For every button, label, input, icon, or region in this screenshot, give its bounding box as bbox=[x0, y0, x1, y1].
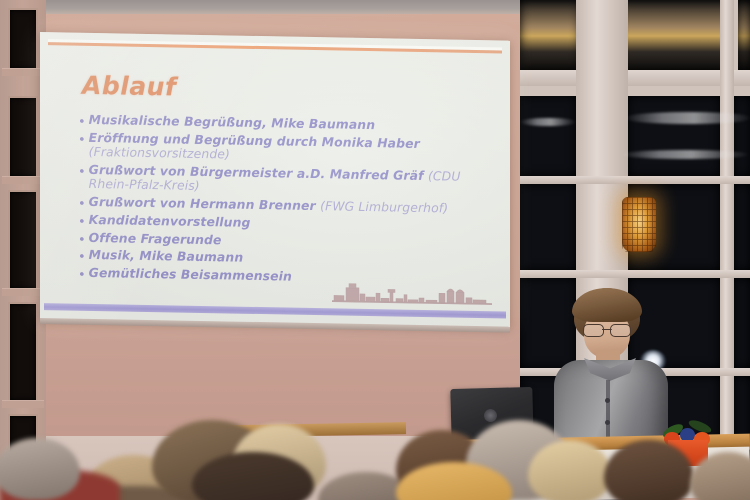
left-window-mullion bbox=[2, 68, 44, 76]
left-window-mullion bbox=[2, 288, 44, 296]
list-item: • Eröffnung und Begrüßung durch Monika H… bbox=[78, 130, 498, 166]
bullet-marker-icon: • bbox=[78, 116, 86, 129]
town-skyline-icon bbox=[332, 277, 492, 306]
transom-pane bbox=[618, 0, 734, 72]
left-window-pane bbox=[8, 8, 38, 70]
projection-screen: Ablauf • Musikalische Begrüßung, Mike Ba… bbox=[40, 32, 510, 329]
bullet-note: (FWG Limburgerhof) bbox=[320, 198, 448, 215]
bullet-marker-icon: • bbox=[78, 133, 86, 146]
window-pane bbox=[520, 96, 576, 176]
speaker-glasses-icon bbox=[583, 324, 631, 335]
left-window-pane bbox=[8, 190, 38, 290]
left-window-mullion bbox=[2, 176, 44, 184]
bullet-text: Gemütliches Beisammensein bbox=[89, 265, 292, 284]
bullet-marker-icon: • bbox=[78, 216, 86, 229]
bullet-marker-icon: • bbox=[78, 166, 86, 179]
bullet-text: Musik, Mike Baumann bbox=[89, 247, 244, 265]
left-window-pane bbox=[8, 96, 38, 178]
bullet-text: Grußwort von Hermann Brenner bbox=[89, 194, 316, 213]
golden-mosaic-lamp-icon bbox=[622, 197, 656, 252]
bullet-marker-icon: • bbox=[78, 233, 86, 246]
speaker-fringe bbox=[572, 288, 642, 322]
bullet-text: Kandidatenvorstellung bbox=[89, 212, 251, 230]
window-frame-rail bbox=[520, 70, 750, 86]
window-pane bbox=[734, 184, 750, 270]
slide-title: Ablauf bbox=[82, 71, 176, 102]
bullet-marker-icon: • bbox=[78, 198, 86, 211]
bullet-note: (Fraktionsvorsitzende) bbox=[89, 144, 230, 162]
photo-scene: Ablauf • Musikalische Begrüßung, Mike Ba… bbox=[0, 0, 750, 500]
glass-reflection bbox=[624, 112, 750, 124]
slide-footer-bar bbox=[44, 303, 506, 318]
list-item: • Grußwort von Bürgermeister a.D. Manfre… bbox=[78, 163, 498, 199]
bullet-text: Musikalische Begrüßung, Mike Baumann bbox=[89, 112, 375, 132]
slide-bullet-list: • Musikalische Begrüßung, Mike Baumann •… bbox=[78, 113, 498, 292]
glass-reflection bbox=[520, 118, 576, 126]
laptop-logo-icon bbox=[484, 409, 497, 422]
bullet-marker-icon: • bbox=[78, 269, 86, 282]
transom-pane bbox=[520, 0, 580, 72]
bullet-text: Offene Fragerunde bbox=[89, 230, 222, 247]
window-pane bbox=[734, 278, 750, 368]
glass-reflection bbox=[620, 150, 750, 159]
lamp-texture bbox=[622, 197, 656, 252]
window-pane bbox=[520, 184, 576, 270]
left-window-mullion bbox=[2, 400, 44, 408]
left-window-pane bbox=[8, 302, 38, 402]
window-mullion bbox=[720, 0, 734, 470]
window-pane bbox=[628, 96, 720, 176]
window-rail bbox=[520, 176, 750, 184]
transom-pane bbox=[738, 0, 750, 72]
window-pane bbox=[734, 96, 750, 176]
bullet-marker-icon: • bbox=[78, 251, 86, 264]
window-rail bbox=[520, 270, 750, 278]
